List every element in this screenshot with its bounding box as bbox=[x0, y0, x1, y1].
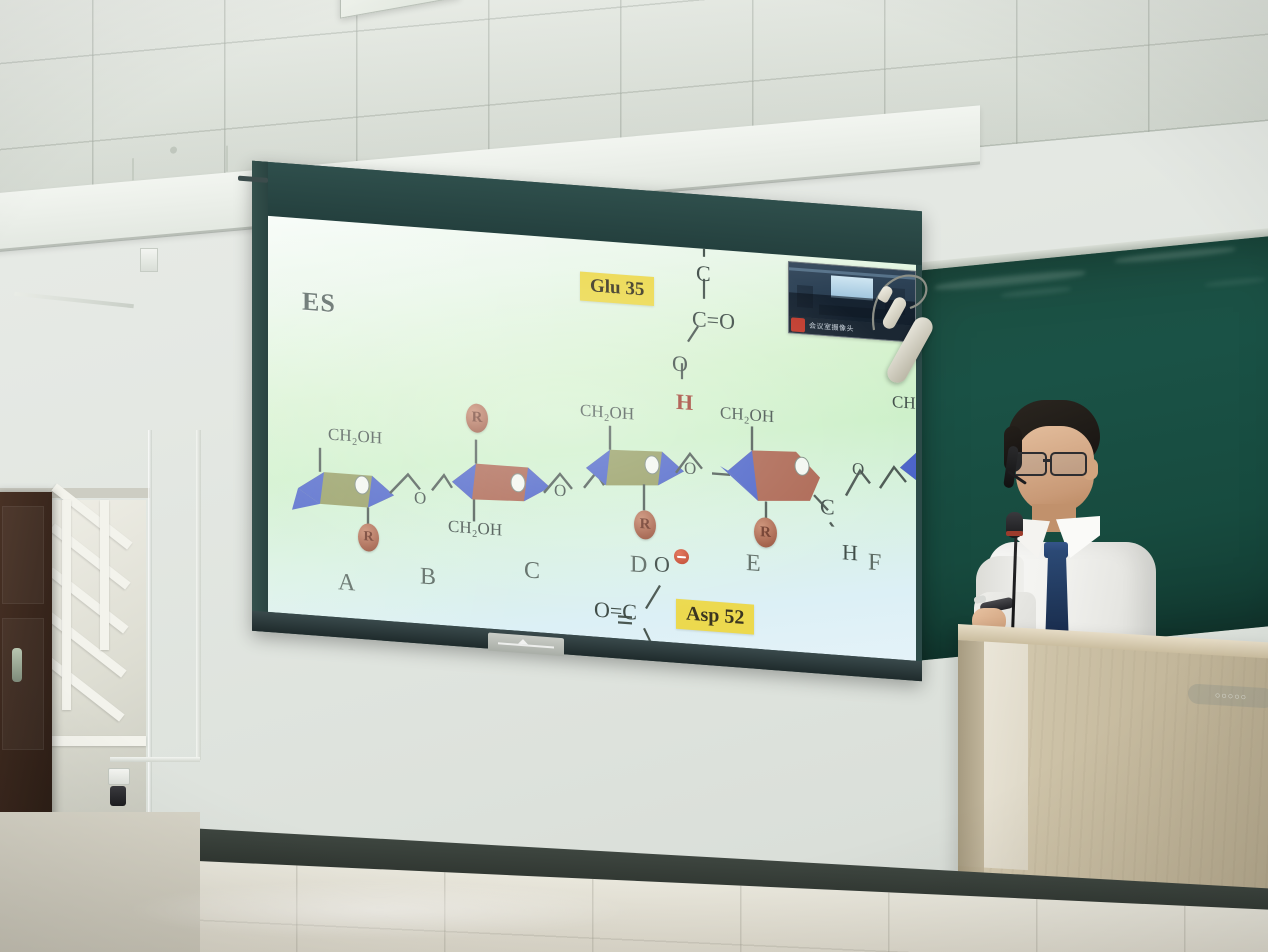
ceiling-hanger-rod bbox=[132, 158, 134, 180]
hanging-microphone[interactable] bbox=[866, 268, 976, 398]
entry-door[interactable] bbox=[0, 492, 52, 844]
floor-reflection bbox=[120, 880, 640, 940]
wall-outlet[interactable] bbox=[108, 768, 130, 785]
projection-screen: ES Glu 35 C C=O O H bbox=[252, 161, 922, 682]
presenter bbox=[960, 400, 1180, 650]
wall-junction-box bbox=[140, 248, 158, 272]
wall-pilaster-edge bbox=[148, 430, 152, 850]
door-handle[interactable] bbox=[12, 648, 22, 682]
wall-conduit-vertical bbox=[196, 430, 201, 760]
ceiling-hanger-rod bbox=[226, 146, 228, 172]
wall-conduit-horizontal bbox=[110, 757, 200, 762]
plugged-adapter bbox=[110, 786, 126, 806]
lecture-hall-photo: ES Glu 35 C C=O O H bbox=[0, 0, 1268, 952]
eyeglasses-icon bbox=[1010, 452, 1094, 474]
microphone-accent-ring bbox=[1006, 531, 1023, 536]
screen-left-edge bbox=[252, 161, 268, 632]
screen-surface: ES Glu 35 C C=O O H bbox=[268, 216, 916, 661]
screen-light-falloff bbox=[268, 216, 916, 661]
